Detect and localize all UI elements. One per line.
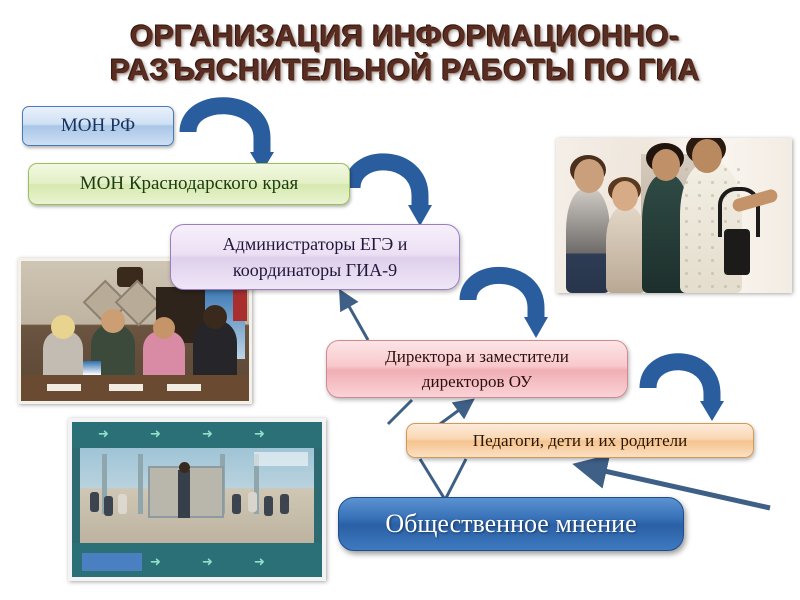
audience-member bbox=[248, 492, 257, 512]
arrow-teachers-to-opinion-right bbox=[446, 459, 466, 498]
box-mon-rf-label: МОН РФ bbox=[23, 115, 173, 137]
arrow-glyph: ➜ bbox=[150, 427, 161, 442]
arrow-teachers-to-directors-head bbox=[440, 402, 470, 424]
box-ege-administrators-label: Администраторы ЕГЭ и координаторы ГИА-9 bbox=[171, 231, 459, 283]
shoulder-bag bbox=[724, 229, 750, 275]
table-flag bbox=[83, 361, 101, 375]
box-directors-label: Директора и заместители директоров ОУ bbox=[327, 344, 627, 394]
audience-member bbox=[232, 494, 241, 514]
person-head bbox=[51, 315, 75, 339]
box-teachers-children-parents[interactable]: Педагоги, дети и их родители bbox=[406, 423, 754, 458]
audience-member bbox=[118, 494, 127, 514]
photo-tv-studio: ➜ ➜ ➜ ➜ ➜ ➜ ➜ ➜ bbox=[68, 418, 326, 581]
paper bbox=[47, 384, 81, 391]
person-head bbox=[574, 159, 604, 193]
arrow-teachers-to-opinion-left bbox=[420, 459, 444, 498]
arrow-glyph: ➜ bbox=[254, 555, 265, 570]
presentation-slide: ОРГАНИЗАЦИЯ ИНФОРМАЦИОННО- РАЗЪЯСНИТЕЛЬН… bbox=[0, 0, 800, 600]
box-public-opinion[interactable]: Общественное мнение bbox=[338, 497, 684, 551]
person-body bbox=[606, 207, 646, 293]
person-head bbox=[652, 149, 680, 181]
person-head bbox=[692, 139, 722, 173]
audience-member bbox=[264, 496, 273, 516]
arrow-mon-kk-to-admins bbox=[352, 162, 432, 226]
channel-watermark bbox=[254, 452, 308, 466]
box-ege-administrators[interactable]: Администраторы ЕГЭ и координаторы ГИА-9 bbox=[170, 224, 460, 290]
person-body bbox=[566, 189, 610, 293]
page-title: ОРГАНИЗАЦИЯ ИНФОРМАЦИОННО- РАЗЪЯСНИТЕЛЬН… bbox=[95, 20, 715, 88]
arrow-glyph: ➜ bbox=[202, 427, 213, 442]
studio-band-top: ➜ ➜ ➜ ➜ bbox=[72, 422, 322, 448]
box-mon-rf[interactable]: МОН РФ bbox=[22, 106, 174, 146]
person-head bbox=[153, 317, 175, 339]
audience-member bbox=[104, 496, 113, 516]
person-body bbox=[193, 321, 237, 375]
arrow-glyph: ➜ bbox=[254, 427, 265, 442]
person-head bbox=[203, 305, 227, 329]
box-public-opinion-label: Общественное мнение bbox=[339, 509, 683, 539]
host-head bbox=[179, 462, 190, 473]
photo-students-noticeboard bbox=[556, 138, 792, 293]
box-mon-krasnodar-krai[interactable]: МОН Краснодарского края bbox=[28, 163, 350, 205]
arrow-glyph: ➜ bbox=[98, 427, 109, 442]
paper bbox=[167, 384, 201, 391]
box-directors[interactable]: Директора и заместители директоров ОУ bbox=[326, 340, 628, 398]
person-head bbox=[101, 309, 125, 333]
arrow-directors-to-admins bbox=[342, 294, 368, 340]
person-head bbox=[612, 181, 638, 211]
arrow-admins-to-directors bbox=[468, 275, 548, 338]
audience-member bbox=[280, 494, 289, 514]
paper bbox=[109, 384, 143, 391]
box-teachers-children-parents-label: Педагоги, дети и их родители bbox=[407, 431, 753, 451]
arrow-teachers-to-directors bbox=[388, 400, 412, 424]
box-mon-krasnodar-krai-label: МОН Краснодарского края bbox=[29, 173, 349, 195]
arrow-glyph: ➜ bbox=[202, 555, 213, 570]
arrow-glyph: ➜ bbox=[150, 555, 161, 570]
truss bbox=[138, 454, 143, 514]
host-body bbox=[178, 470, 190, 518]
arrow-directors-to-teachers bbox=[648, 362, 724, 421]
audience-member bbox=[90, 492, 99, 512]
broadcast-logo bbox=[82, 553, 142, 571]
